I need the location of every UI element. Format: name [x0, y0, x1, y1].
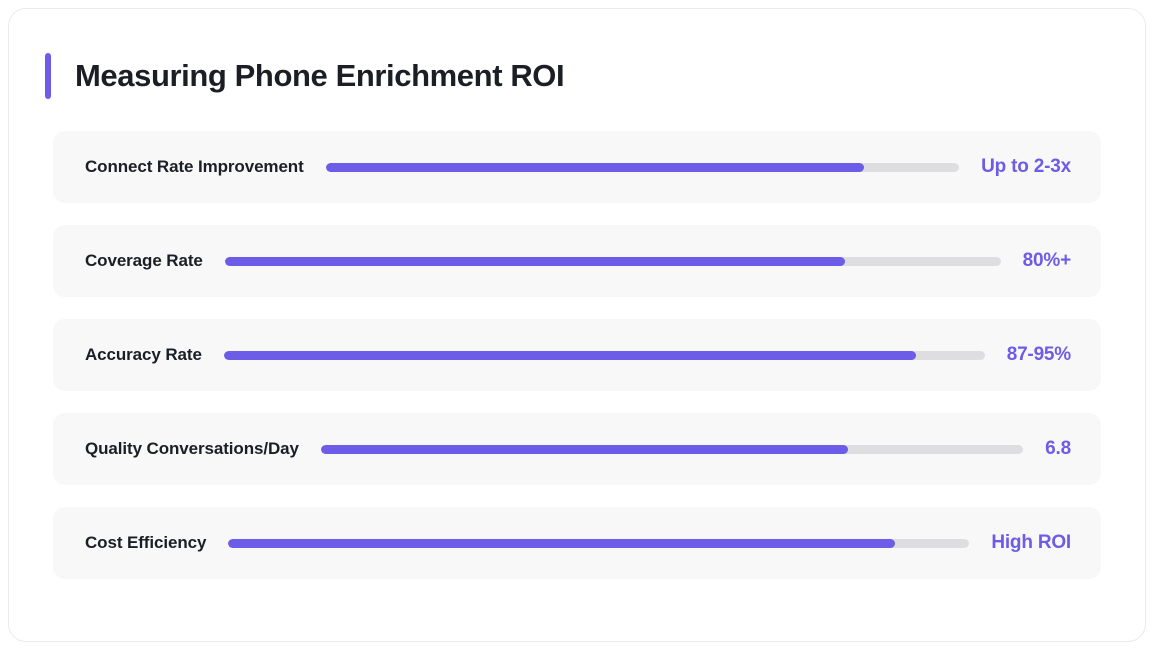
metric-row-connect-rate-improvement: Connect Rate Improvement Up to 2-3x: [53, 131, 1101, 203]
metric-progress-fill: [224, 351, 916, 360]
metric-value: 80%+: [1023, 250, 1071, 272]
metric-value: High ROI: [991, 532, 1071, 554]
metric-row-coverage-rate: Coverage Rate 80%+: [53, 225, 1101, 297]
metric-row-quality-conversations-per-day: Quality Conversations/Day 6.8: [53, 413, 1101, 485]
metric-label: Quality Conversations/Day: [85, 439, 299, 459]
metrics-list: Connect Rate Improvement Up to 2-3x Cove…: [53, 131, 1101, 579]
metric-label: Accuracy Rate: [85, 345, 202, 365]
title-accent-bar: [45, 53, 51, 99]
metric-progress-fill: [225, 257, 846, 266]
metric-progress-track: [225, 257, 1001, 266]
metric-progress-track: [228, 539, 969, 548]
card-header: Measuring Phone Enrichment ROI: [45, 53, 1145, 99]
metric-value: 6.8: [1045, 438, 1071, 460]
metric-row-cost-efficiency: Cost Efficiency High ROI: [53, 507, 1101, 579]
metric-progress-fill: [321, 445, 848, 454]
metric-progress-track: [224, 351, 985, 360]
metric-value: Up to 2-3x: [981, 156, 1071, 178]
metric-progress-track: [321, 445, 1023, 454]
metric-progress-track: [326, 163, 959, 172]
metric-progress-fill: [326, 163, 864, 172]
roi-card: Measuring Phone Enrichment ROI Connect R…: [8, 8, 1146, 642]
metric-label: Cost Efficiency: [85, 533, 206, 553]
metric-row-accuracy-rate: Accuracy Rate 87-95%: [53, 319, 1101, 391]
metric-label: Coverage Rate: [85, 251, 203, 271]
metric-progress-fill: [228, 539, 895, 548]
page-title: Measuring Phone Enrichment ROI: [75, 53, 564, 99]
metric-label: Connect Rate Improvement: [85, 157, 304, 177]
metric-value: 87-95%: [1007, 344, 1071, 366]
